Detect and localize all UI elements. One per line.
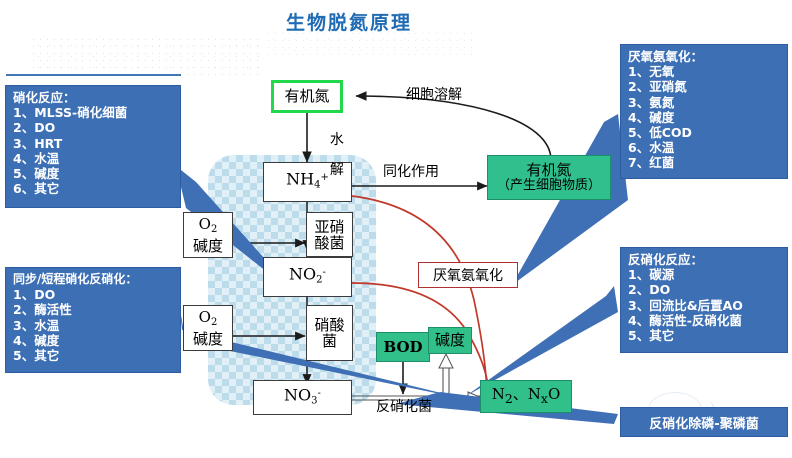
node-nitrite-bacteria-line1: 亚硝 [314, 219, 344, 235]
node-alkalinity: 碱度 [428, 327, 472, 354]
node-o2-alkalinity-top-line2: 碱度 [193, 238, 223, 254]
panel-simultaneous-shortcut-item-5: 5、其它 [13, 348, 174, 363]
panel-nitrification-item-6: 6、其它 [13, 181, 174, 196]
node-alkalinity-label: 碱度 [435, 333, 465, 348]
panel-nitrification-item-3: 3、HRT [13, 136, 174, 151]
panel-simultaneous-shortcut[interactable]: 同步/短程硝化反硝化： 1、DO 2、酶活性 3、水温 4、碱度 5、其它 [5, 267, 181, 373]
panel-anammox-item-2: 2、亚硝氮 [628, 79, 781, 94]
panel-nitrification-item-2: 2、DO [13, 120, 174, 135]
panel-nitrification-item-4: 4、水温 [13, 151, 174, 166]
node-organic-nitrogen-cell: 有机氮 （产生细胞物质） [487, 155, 611, 200]
panel-anammox[interactable]: 厌氧氨氧化： 1、无氧 2、亚硝氮 3、氨氮 4、碱度 5、低COD 6、水温 … [620, 44, 788, 179]
panel-denitri-dephosphorus-label: 反硝化除磷-聚磷菌 [649, 413, 758, 432]
node-organic-nitrogen-label: 有机氮 [284, 89, 329, 104]
label-cell-lysis: 细胞溶解 [406, 88, 462, 103]
panel-nitrification-item-5: 5、碱度 [13, 166, 174, 181]
label-assimilation: 同化作用 [383, 165, 439, 180]
node-organic-nitrogen: 有机氮 [271, 80, 343, 113]
panel-nitrification-item-1: 1、MLSS-硝化细菌 [13, 105, 174, 120]
label-hydrolysis-line2: 解 [330, 162, 344, 178]
panel-denitrification[interactable]: 反硝化反应： 1、碳源 2、DO 3、回流比&后置AO 4、酶活性-反硝化菌 5… [620, 247, 788, 353]
panel-denitri-dephosphorus[interactable]: 反硝化除磷-聚磷菌 [620, 407, 788, 437]
node-n2-nxo: N2、NxO [480, 380, 572, 413]
node-o2-alkalinity-bottom-line1: O2 [199, 309, 218, 331]
panel-anammox-item-5: 5、低COD [628, 125, 781, 140]
node-organic-nitrogen-cell-line2: （产生细胞物质） [497, 178, 601, 193]
label-hydrolysis: 水 解 [312, 118, 344, 193]
panel-simultaneous-shortcut-item-4: 4、碱度 [13, 333, 174, 348]
panel-denitrification-item-1: 1、碳源 [628, 267, 781, 282]
diagram-canvas: ( 。ᴗ ) 生物脱氮原理 [0, 0, 792, 458]
panel-simultaneous-shortcut-item-1: 1、DO [13, 287, 174, 302]
panel-simultaneous-shortcut-item-3: 3、水温 [13, 318, 174, 333]
node-no3-label: NO3- [284, 386, 321, 409]
panel-anammox-item-4: 4、碱度 [628, 110, 781, 125]
panel-anammox-item-1: 1、无氧 [628, 64, 781, 79]
panel-nitrification[interactable]: 硝化反应： 1、MLSS-硝化细菌 2、DO 3、HRT 4、水温 5、碱度 6… [5, 85, 181, 208]
node-nitrate-bacteria-line1: 硝酸 [314, 317, 344, 333]
node-o2-alkalinity-bottom: O2 碱度 [183, 305, 233, 351]
panel-anammox-item-7: 7、红菌 [628, 155, 781, 170]
panel-denitrification-item-4: 4、酶活性-反硝化菌 [628, 313, 781, 328]
node-no2-label: NO2- [289, 265, 326, 288]
node-o2-alkalinity-top: O2 碱度 [183, 212, 233, 258]
tag-anammox-reaction: 厌氧氨氧化 [418, 262, 518, 288]
node-organic-nitrogen-cell-line1: 有机氮 [526, 163, 571, 178]
node-bod-label: BOD [383, 340, 422, 355]
panel-denitrification-item-2: 2、DO [628, 282, 781, 297]
node-nitrate-bacteria: 硝酸 菌 [306, 305, 353, 361]
label-hydrolysis-line1: 水 [330, 132, 344, 148]
panel-anammox-item-6: 6、水温 [628, 140, 781, 155]
node-no2: NO2- [263, 257, 352, 297]
node-nitrite-bacteria: 亚硝 酸菌 [306, 212, 353, 257]
node-o2-alkalinity-bottom-line2: 碱度 [193, 331, 223, 347]
label-denitrifying-bacteria: 反硝化菌 [376, 400, 432, 415]
node-n2-nxo-label: N2、NxO [492, 387, 561, 406]
node-nitrate-bacteria-line2: 菌 [322, 333, 337, 349]
panel-nitrification-header: 硝化反应： [13, 90, 174, 105]
node-o2-alkalinity-top-line1: O2 [199, 216, 218, 238]
panel-anammox-item-3: 3、氨氮 [628, 95, 781, 110]
node-nitrite-bacteria-line2: 酸菌 [314, 235, 344, 251]
panel-simultaneous-shortcut-item-2: 2、酶活性 [13, 302, 174, 317]
panel-simultaneous-shortcut-header: 同步/短程硝化反硝化： [13, 272, 174, 287]
tag-anammox-reaction-label: 厌氧氨氧化 [433, 265, 503, 285]
panel-anammox-header: 厌氧氨氧化： [628, 49, 781, 64]
node-bod: BOD [376, 332, 430, 362]
node-no3: NO3- [253, 380, 352, 415]
panel-denitrification-header: 反硝化反应： [628, 252, 781, 267]
panel-denitrification-item-3: 3、回流比&后置AO [628, 298, 781, 313]
panel-denitrification-item-5: 5、其它 [628, 328, 781, 343]
